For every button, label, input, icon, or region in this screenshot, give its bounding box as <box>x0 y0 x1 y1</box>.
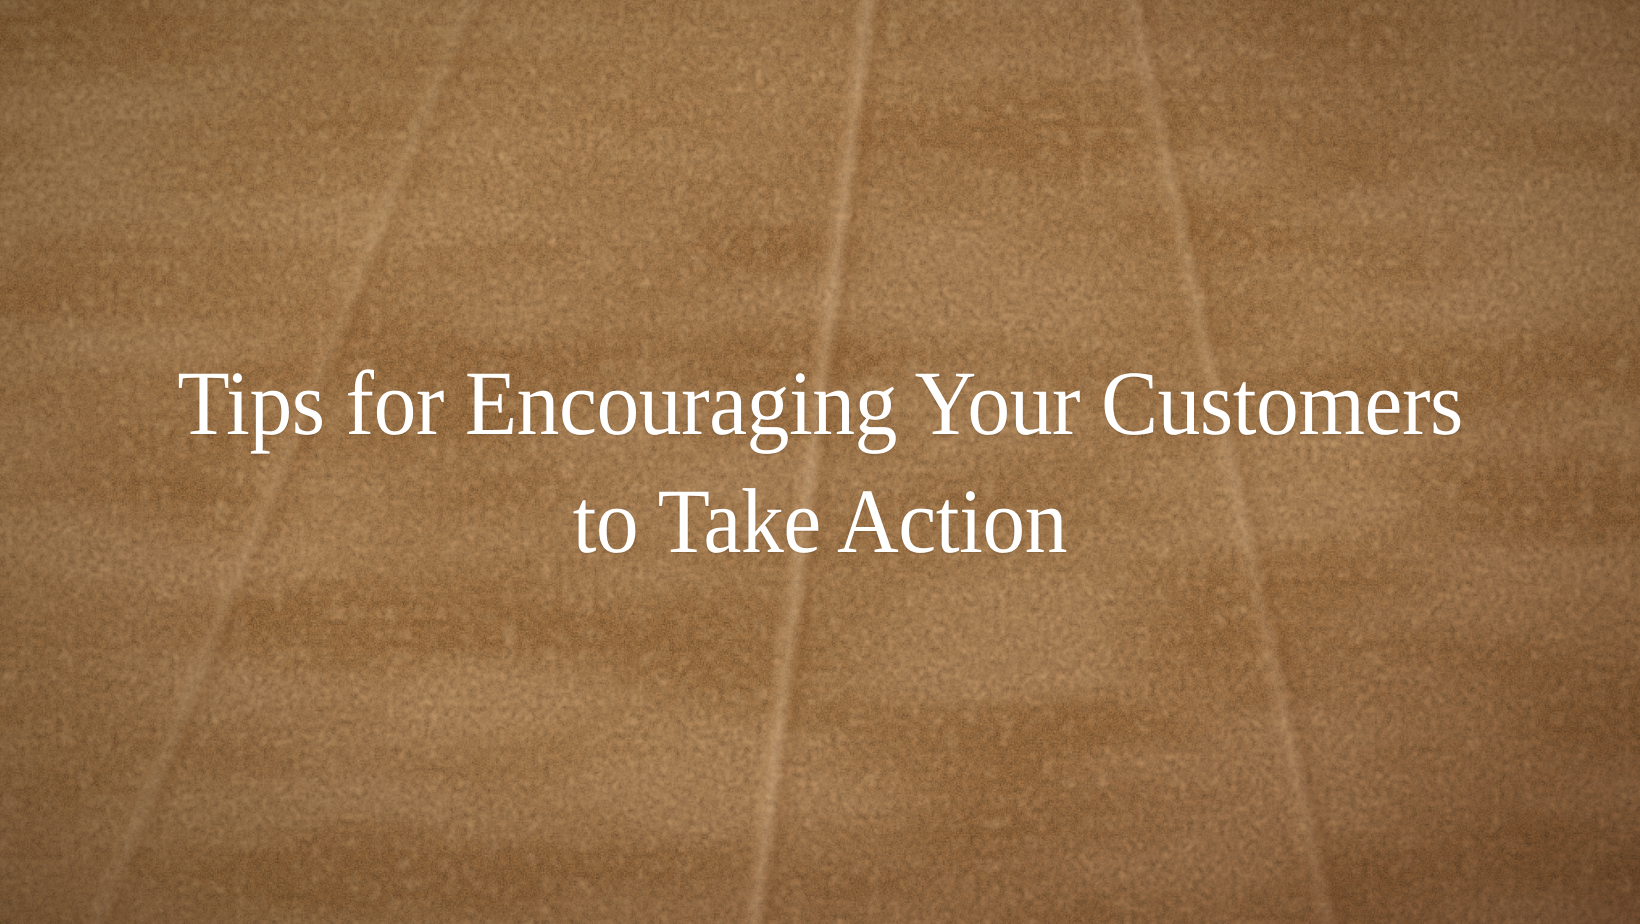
leather-hero-banner: Tips for Encouraging Your Customers to T… <box>0 0 1640 924</box>
banner-title-block: Tips for Encouraging Your Customers to T… <box>0 0 1640 924</box>
banner-title-line-2: to Take Action <box>573 462 1067 580</box>
banner-title-line-1: Tips for Encouraging Your Customers <box>177 344 1462 462</box>
